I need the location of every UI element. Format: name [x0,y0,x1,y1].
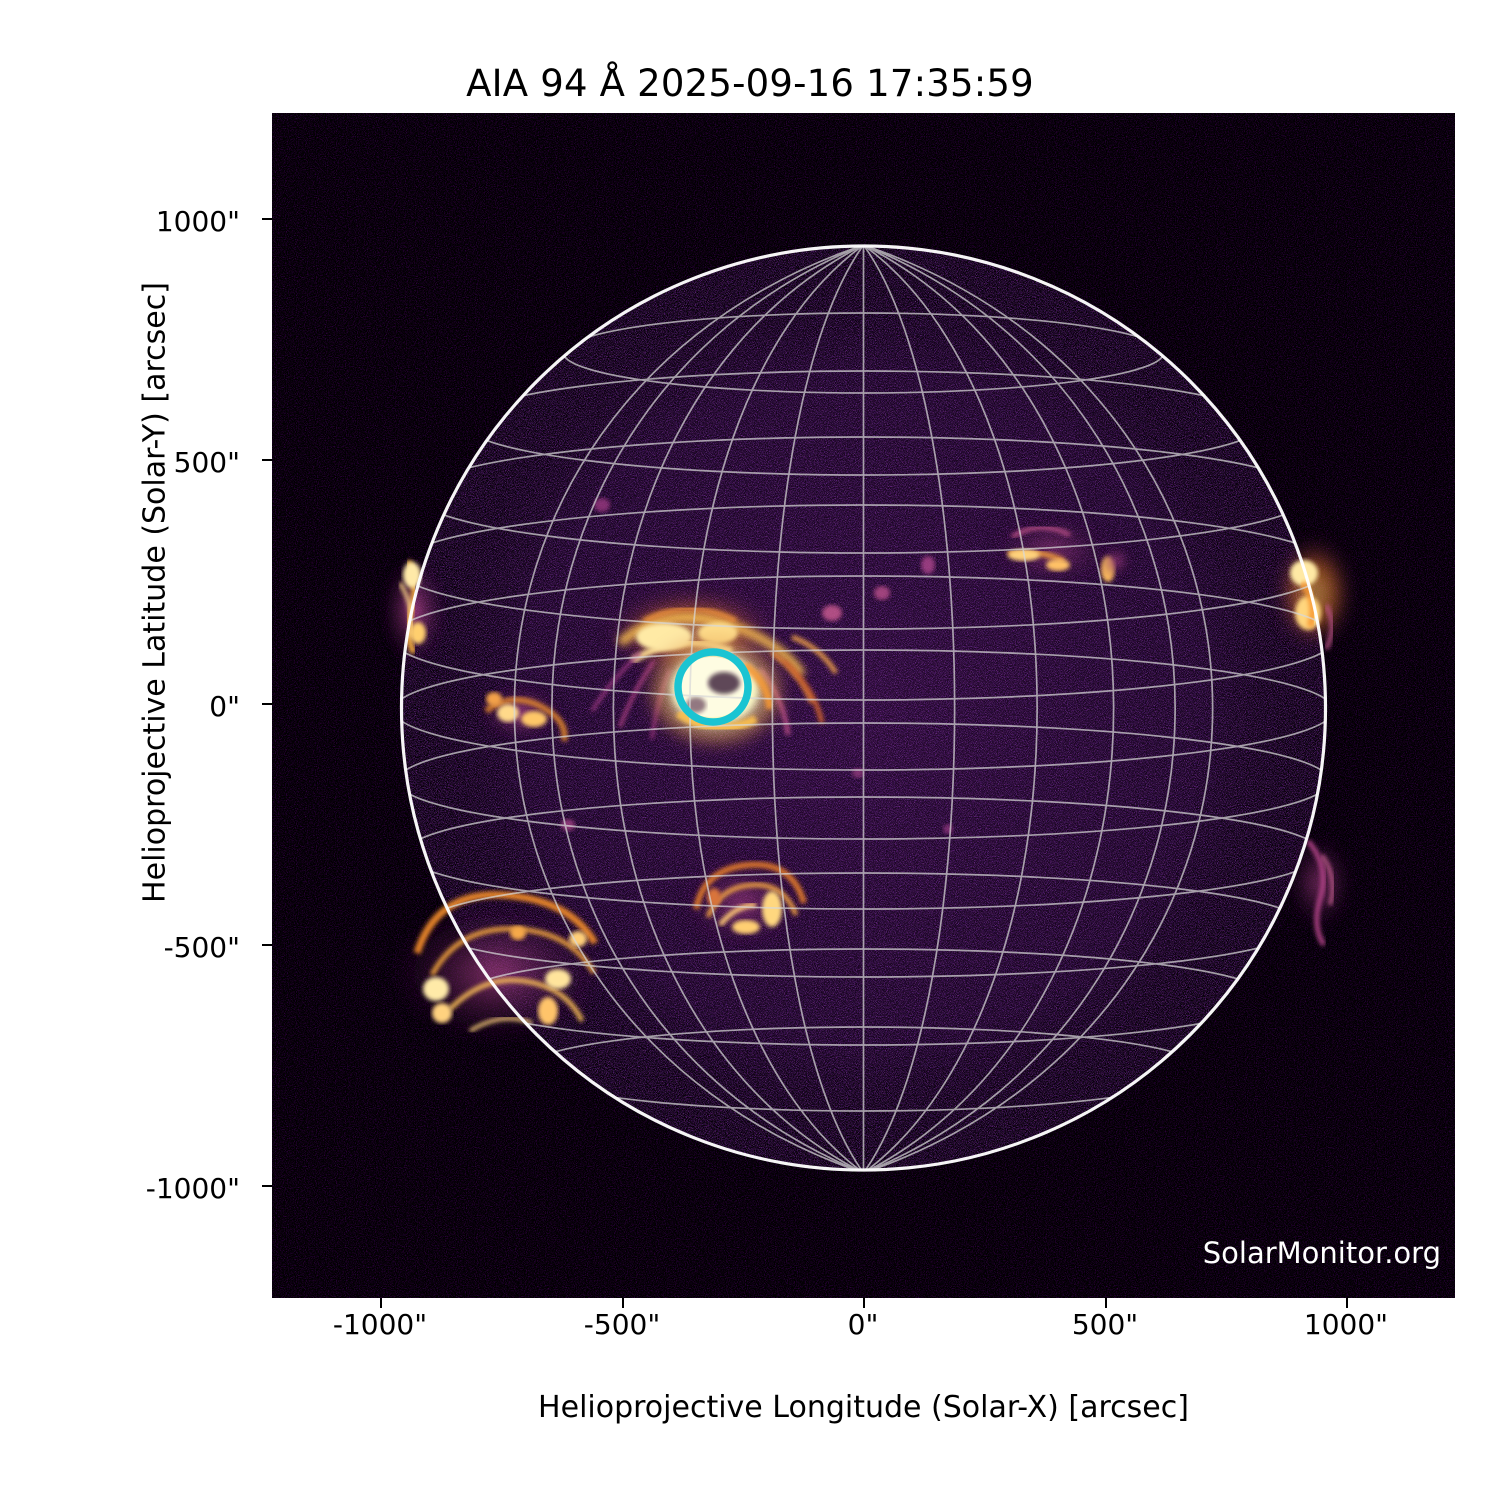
x-tick-label-0: 0" [763,1308,963,1341]
x-tick-label-n500: -500" [522,1308,722,1341]
y-tick-label-500: 500" [60,446,240,479]
x-tick-mark-500 [1105,1298,1107,1308]
y-tick-mark-0 [262,703,272,705]
solar-disk-image [272,113,1455,1298]
y-tick-mark-n1000 [262,1185,272,1187]
y-tick-label-n500: -500" [60,931,240,964]
watermark: SolarMonitor.org [1203,1236,1441,1270]
x-tick-mark-1000 [1346,1298,1348,1308]
x-axis-label: Helioprojective Longitude (Solar-X) [arc… [272,1390,1455,1425]
y-tick-mark-500 [262,459,272,461]
y-tick-mark-1000 [262,218,272,220]
y-tick-mark-n500 [262,944,272,946]
x-tick-mark-n500 [622,1298,624,1308]
solar-image-plot-area[interactable]: SolarMonitor.org [272,113,1455,1298]
y-tick-label-0: 0" [60,690,240,723]
x-tick-mark-0 [863,1298,865,1308]
y-tick-label-1000: 1000" [60,205,240,238]
y-tick-label-n1000: -1000" [60,1172,240,1205]
x-tick-label-1000: 1000" [1246,1308,1446,1341]
page-title: AIA 94 Å 2025-09-16 17:35:59 [0,62,1500,105]
x-tick-label-n1000: -1000" [280,1308,480,1341]
x-tick-mark-n1000 [380,1298,382,1308]
solar-image-figure: AIA 94 Å 2025-09-16 17:35:59 [0,0,1500,1500]
x-tick-label-500: 500" [1005,1308,1205,1341]
